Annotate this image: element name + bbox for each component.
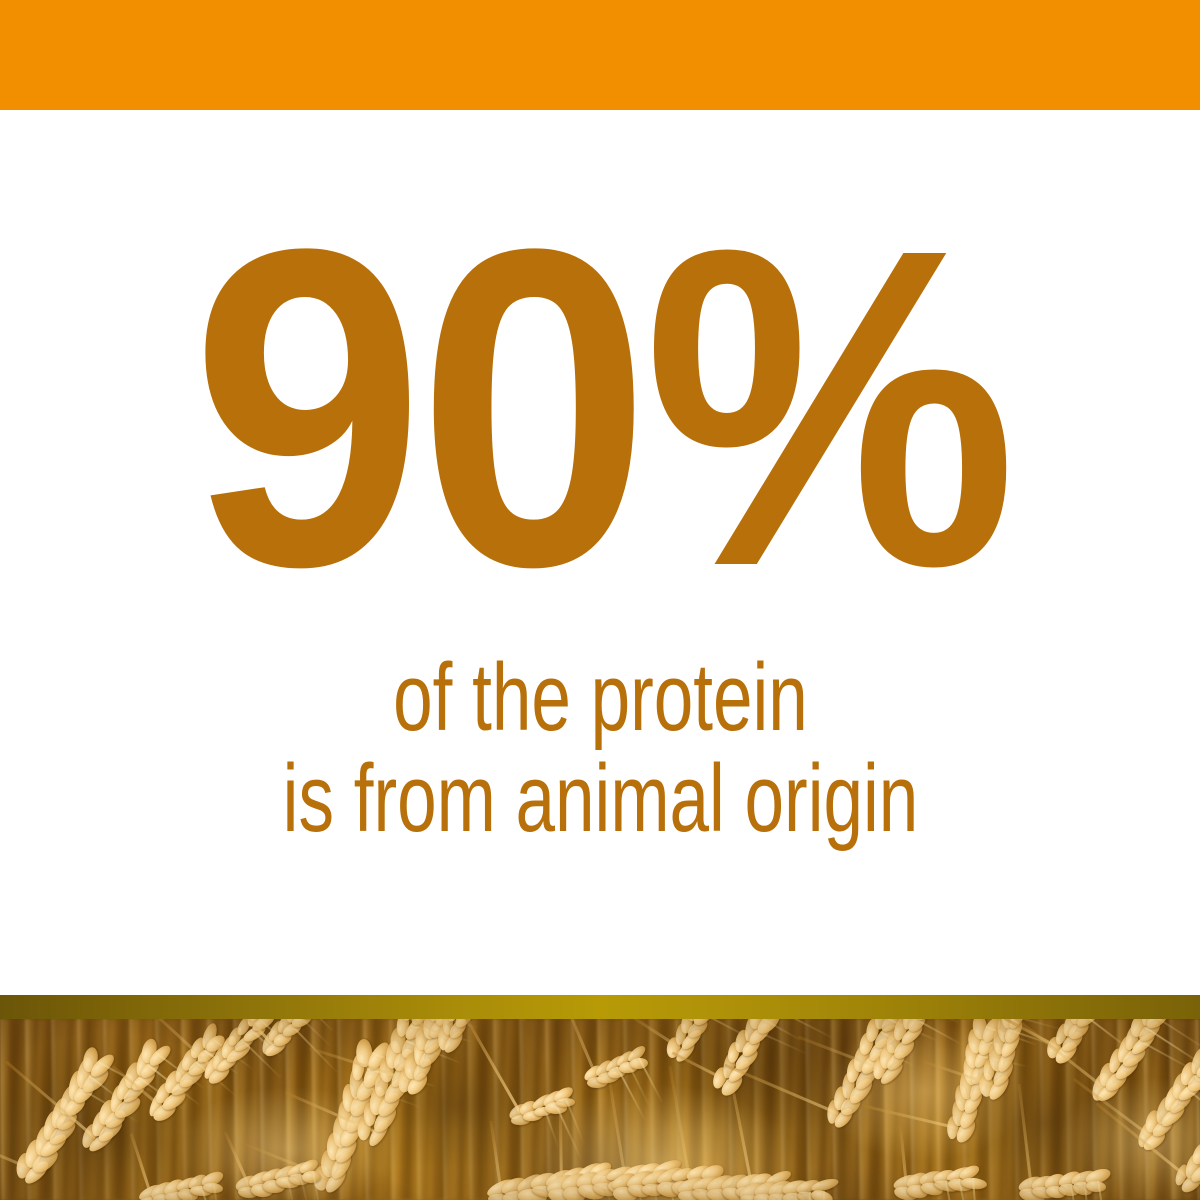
infographic-card: 90% of the protein is from animal origin (0, 0, 1200, 1200)
caption-line-2: is from animal origin (282, 748, 918, 850)
stat-caption: of the protein is from animal origin (282, 647, 918, 851)
divider-band (0, 995, 1200, 1019)
stat-value: 90% (190, 232, 1009, 585)
main-content: 90% of the protein is from animal origin (0, 110, 1200, 995)
wheat-field-photo (0, 1019, 1200, 1200)
photo-soften-layer (0, 1019, 1200, 1200)
top-accent-bar (0, 0, 1200, 110)
caption-line-1: of the protein (282, 647, 918, 749)
